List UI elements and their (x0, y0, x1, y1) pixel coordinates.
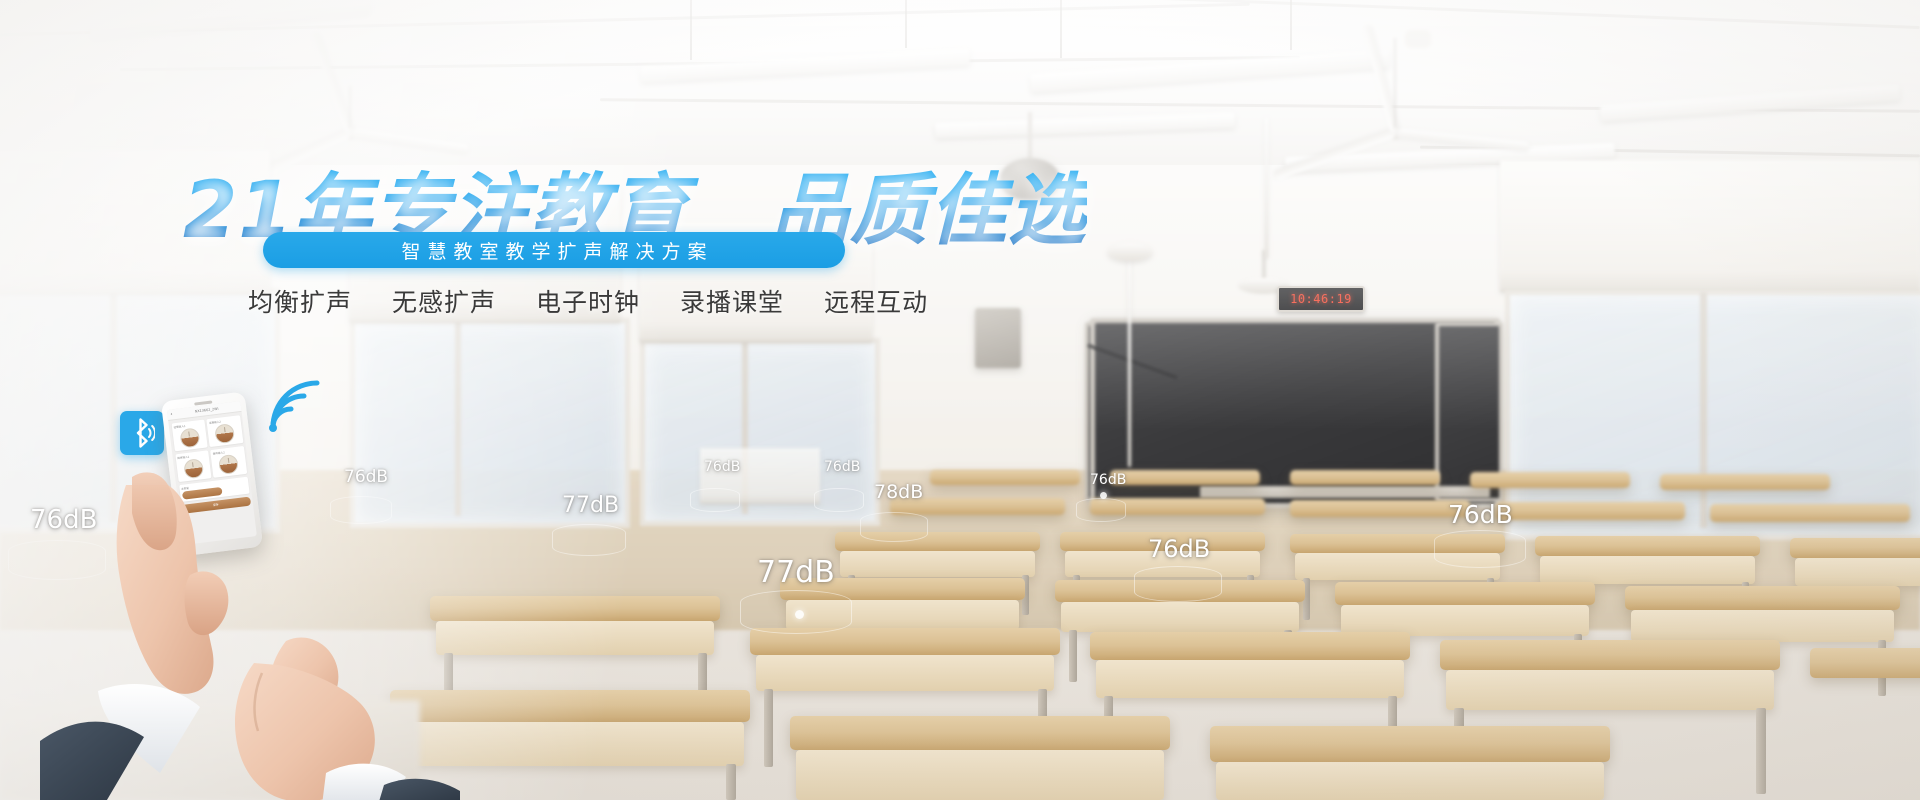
classroom-promo-banner: 10:46:19 (0, 0, 1920, 800)
mixer-card[interactable]: 话筒输入1 (171, 419, 207, 451)
subtitle-text: 智慧教室教学扩声解决方案 (394, 237, 713, 264)
sound-level-label: 76dB (1448, 500, 1513, 529)
mixer-card-label: 话筒输入1 (173, 423, 185, 428)
mixer-card-label: 话筒输入2 (209, 419, 221, 424)
feature-list: 均衡扩声 无感扩声 电子时钟 录播课堂 远程互动 (248, 283, 928, 319)
rotary-knob[interactable] (179, 427, 200, 448)
sound-level-label: 76dB (1090, 472, 1126, 488)
feature-item-5: 远程互动 (824, 283, 928, 319)
feature-item-4: 录播课堂 (680, 283, 784, 319)
wifi-signal-icon (265, 380, 325, 435)
sound-level-label: 77dB (757, 555, 835, 590)
sound-ripple (1434, 530, 1526, 568)
sound-ripple (814, 488, 864, 512)
sound-ripple (1134, 566, 1222, 602)
sound-level-label: 76dB (1148, 535, 1210, 563)
feature-item-3: 电子时钟 (536, 283, 640, 319)
clock-time: 10:46:19 (1290, 292, 1352, 306)
hand-illustration (40, 455, 460, 800)
mixer-card[interactable]: 话筒输入2 (206, 415, 242, 447)
feature-item-1: 均衡扩声 (248, 283, 352, 319)
sound-ripple (860, 512, 928, 542)
sound-ripple (690, 488, 740, 512)
sound-level-label: 76dB (704, 459, 740, 475)
subtitle-pill: 智慧教室教学扩声解决方案 (263, 232, 845, 268)
bluetooth-badge[interactable] (120, 411, 164, 455)
sound-level-label: 78dB (874, 481, 923, 503)
sound-ripple (552, 524, 626, 556)
bluetooth-icon (129, 418, 155, 448)
chevron-left-icon[interactable]: ‹ (170, 412, 173, 417)
feature-item-2: 无感扩声 (392, 283, 496, 319)
wall-control-box (975, 308, 1021, 368)
rotary-knob[interactable] (214, 423, 235, 444)
sound-level-label: 77dB (562, 493, 619, 518)
sound-level-label: 76dB (824, 459, 860, 475)
led-clock: 10:46:19 (1277, 286, 1365, 312)
sound-ripple (1076, 498, 1126, 522)
